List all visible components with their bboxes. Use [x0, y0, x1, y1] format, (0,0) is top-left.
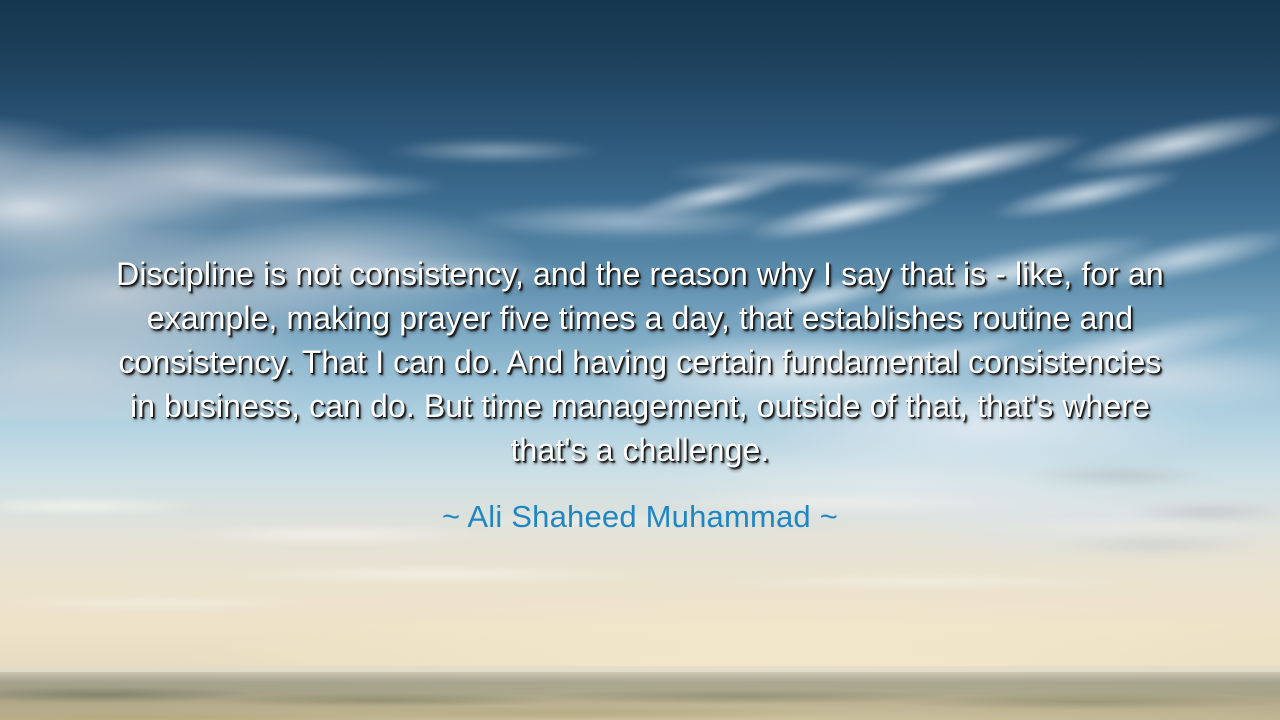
quote-attribution: ~ Ali Shaheed Muhammad ~: [0, 497, 1280, 537]
quote-image-canvas: Discipline is not consistency, and the r…: [0, 0, 1280, 720]
quote-block: Discipline is not consistency, and the r…: [0, 252, 1280, 472]
quote-text: Discipline is not consistency, and the r…: [110, 252, 1170, 472]
land-terrain-detail: [0, 684, 1280, 720]
